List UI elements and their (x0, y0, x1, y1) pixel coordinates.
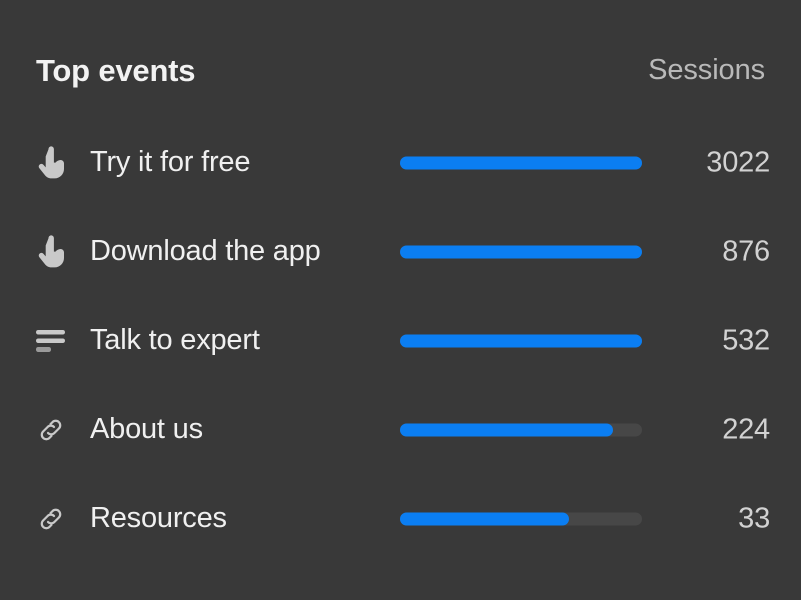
list-item[interactable]: Resources 33 (0, 474, 801, 563)
event-value: 33 (738, 504, 770, 533)
progress-bar (400, 334, 642, 347)
top-events-panel: Top events Sessions Try it for free 3022 (0, 0, 801, 600)
event-label: Try it for free (90, 148, 250, 177)
event-value: 3022 (706, 148, 770, 177)
progress-bar (400, 512, 642, 525)
event-label: Talk to expert (90, 326, 260, 355)
progress-bar (400, 156, 642, 169)
page-title: Top events (36, 55, 195, 86)
event-label: Download the app (90, 237, 321, 266)
progress-fill (400, 156, 642, 169)
event-value: 876 (722, 237, 770, 266)
progress-fill (400, 512, 569, 525)
progress-fill (400, 423, 613, 436)
progress-fill (400, 334, 642, 347)
event-list: Try it for free 3022 Download the app 87… (0, 118, 801, 563)
metric-column-header: Sessions (648, 56, 765, 85)
link-icon (36, 410, 76, 450)
pointer-hand-icon (36, 143, 76, 183)
link-icon (36, 499, 76, 539)
panel-header: Top events Sessions (0, 40, 801, 100)
pointer-hand-icon (36, 232, 76, 272)
event-label: About us (90, 415, 203, 444)
list-item[interactable]: About us 224 (0, 385, 801, 474)
event-value: 532 (722, 326, 770, 355)
progress-bar (400, 423, 642, 436)
event-label: Resources (90, 504, 227, 533)
event-value: 224 (722, 415, 770, 444)
progress-bar (400, 245, 642, 258)
list-item[interactable]: Try it for free 3022 (0, 118, 801, 207)
progress-fill (400, 245, 642, 258)
list-item[interactable]: Download the app 876 (0, 207, 801, 296)
form-lines-icon (36, 321, 76, 361)
list-item[interactable]: Talk to expert 532 (0, 296, 801, 385)
